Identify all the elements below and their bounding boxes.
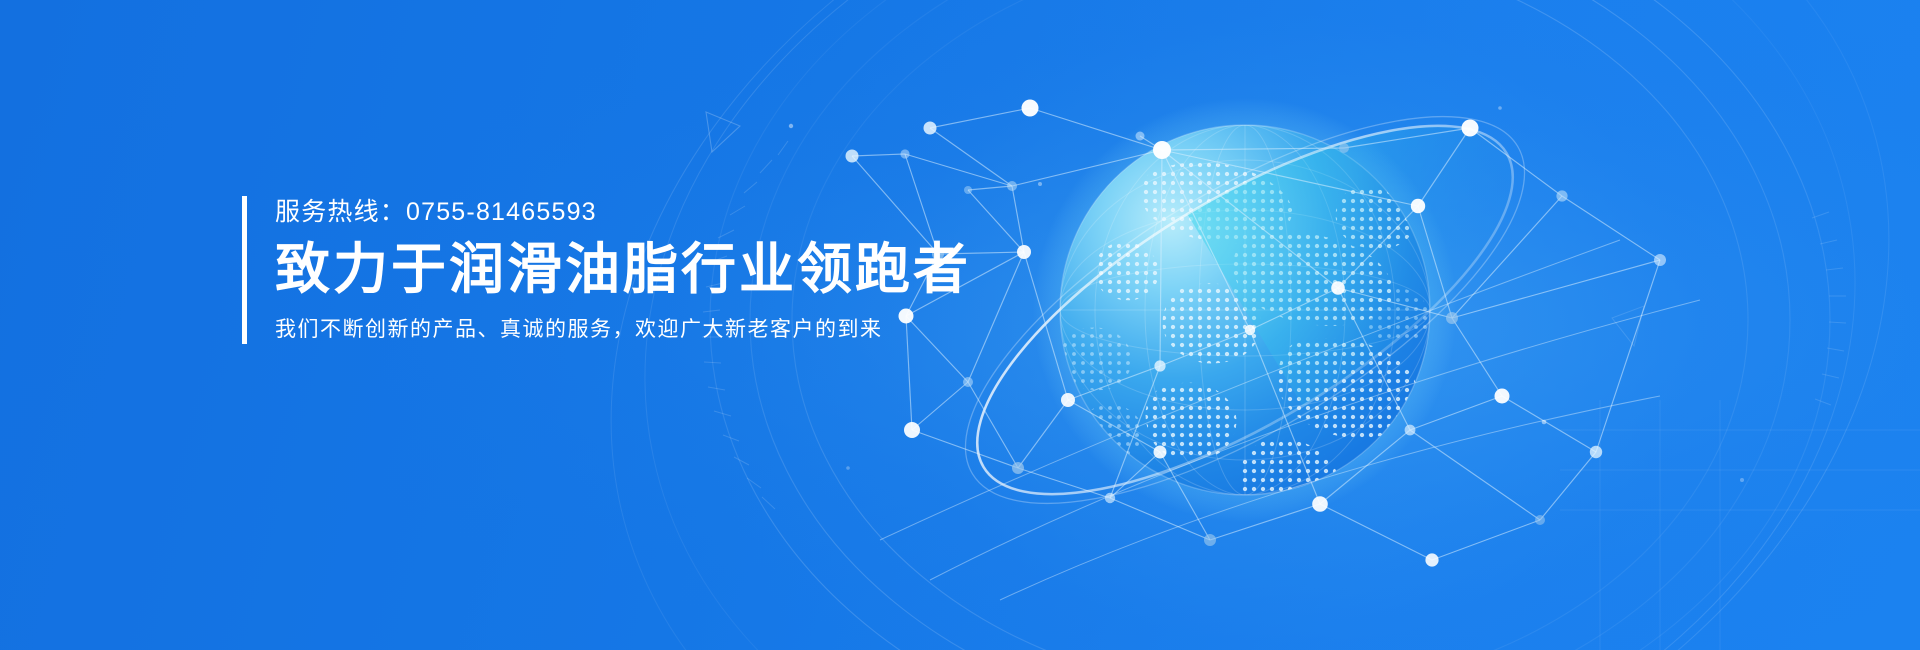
hero-text-block: 服务热线：0755-81465593 致力于润滑油脂行业领跑者 我们不断创新的产… — [242, 196, 1002, 344]
hero-banner: 服务热线：0755-81465593 致力于润滑油脂行业领跑者 我们不断创新的产… — [0, 0, 1920, 650]
page-title: 致力于润滑油脂行业领跑者 — [275, 236, 1002, 303]
hero-subtitle: 我们不断创新的产品、真诚的服务，欢迎广大新老客户的到来 — [275, 315, 1002, 344]
service-hotline: 服务热线：0755-81465593 — [275, 196, 1002, 230]
